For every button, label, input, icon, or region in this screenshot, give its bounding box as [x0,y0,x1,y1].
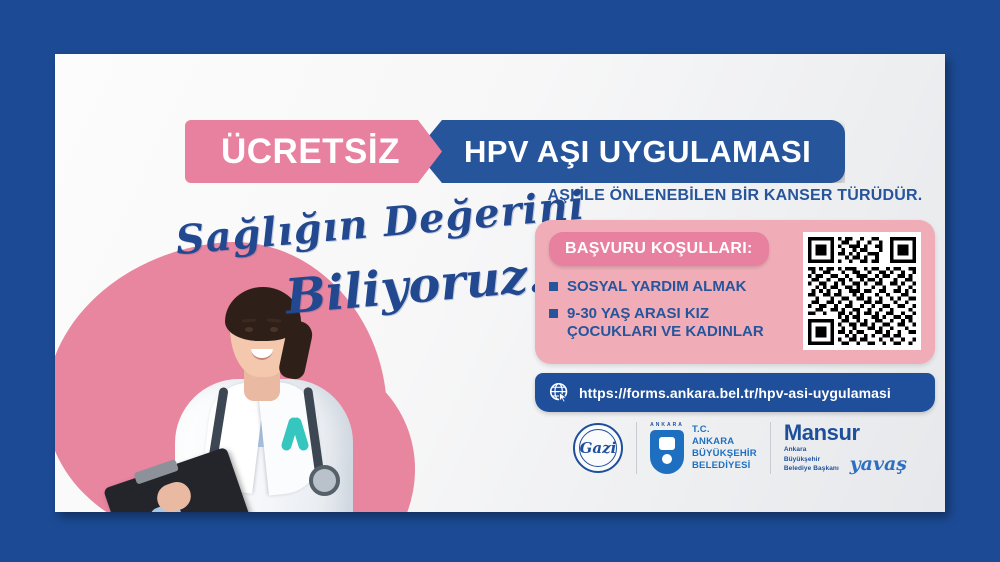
awareness-ribbon-icon [283,417,307,459]
info-column: RAHİM AĞZI KANSERİ AŞI İLE ÖNLENEBİLEN B… [535,166,935,412]
kicker-text: RAHİM AĞZI KANSERİ AŞI İLE ÖNLENEBİLEN B… [535,166,935,206]
doctor-eye-right [270,327,278,332]
bullet-icon [549,282,558,291]
application-url-bar[interactable]: https://forms.ankara.bel.tr/hpv-asi-uygu… [535,373,935,412]
ankara-line2: ANKARA [692,436,757,448]
doctor-eye-left [245,327,253,332]
stethoscope-chestpiece [309,465,340,496]
mansur-subtitle-line2: Belediye Başkanı [784,464,845,473]
free-badge: ÜCRETSİZ [185,120,442,183]
qr-code-image [808,237,916,345]
ankara-logo-text: T.C. ANKARA BÜYÜKŞEHİR BELEDİYESİ [692,424,757,472]
ankara-line3: BÜYÜKŞEHİR [692,448,757,460]
globe-cursor-icon [549,382,570,403]
gazi-seal-icon: Gazi [573,423,623,473]
poster-root: ÜCRETSİZ HPV AŞI UYGULAMASI Sağlığın Değ… [0,0,1000,562]
qr-code[interactable] [803,232,921,350]
ankara-shield-icon [650,430,684,474]
conditions-panel: BAŞVURU KOŞULLARI: SOSYAL YARDIM ALMAK 9… [535,220,935,364]
mansur-logo: Mansur Ankara Büyükşehir Belediye Başkan… [784,422,907,473]
conditions-title: BAŞVURU KOŞULLARI: [549,232,769,266]
poster-card: ÜCRETSİZ HPV AŞI UYGULAMASI Sağlığın Değ… [55,54,945,512]
logo-strip: Gazi ANKARA T.C. ANKARA BÜYÜKŞEHİR BELED… [560,422,920,474]
bullet-icon [549,309,558,318]
list-item: 9-30 YAŞ ARASI KIZ ÇOCUKLARI VE KADINLAR [549,305,791,340]
conditions-list: SOSYAL YARDIM ALMAK 9-30 YAŞ ARASI KIZ Ç… [549,278,791,340]
doctor-photo [133,269,393,512]
logo-ankara-belediyesi: ANKARA T.C. ANKARA BÜYÜKŞEHİR BELEDİYESİ [636,422,770,474]
ankara-emblem-caption: ANKARA [650,422,684,428]
clipboard-clip [133,459,179,485]
list-item: SOSYAL YARDIM ALMAK [549,278,791,296]
ankara-emblem-wrap: ANKARA [650,422,684,474]
application-url: https://forms.ankara.bel.tr/hpv-asi-uygu… [579,385,891,401]
gazi-monogram: Gazi [580,439,617,457]
logo-gazi-universitesi: Gazi [560,423,636,473]
mansur-row: Ankara Büyükşehir Belediye Başkanı yavaş [784,445,907,473]
condition-label: 9-30 YAŞ ARASI KIZ ÇOCUKLARI VE KADINLAR [567,305,791,340]
logo-mansur-yavas: Mansur Ankara Büyükşehir Belediye Başkan… [770,422,920,473]
kicker-line1: RAHİM AĞZI KANSERİ [535,166,935,186]
kicker-line2: AŞI İLE ÖNLENEBİLEN BİR KANSER TÜRÜDÜR. [535,186,935,206]
condition-label: SOSYAL YARDIM ALMAK [567,278,746,296]
conditions-left: BAŞVURU KOŞULLARI: SOSYAL YARDIM ALMAK 9… [549,232,791,349]
mansur-subtitle-line1: Ankara Büyükşehir [784,445,845,464]
ankara-line1: T.C. [692,424,757,436]
mansur-signature: yavaş [850,455,907,474]
mansur-subtitle: Ankara Büyükşehir Belediye Başkanı [784,445,845,473]
ankara-line4: BELEDİYESİ [692,460,757,472]
mansur-name: Mansur [784,422,907,444]
